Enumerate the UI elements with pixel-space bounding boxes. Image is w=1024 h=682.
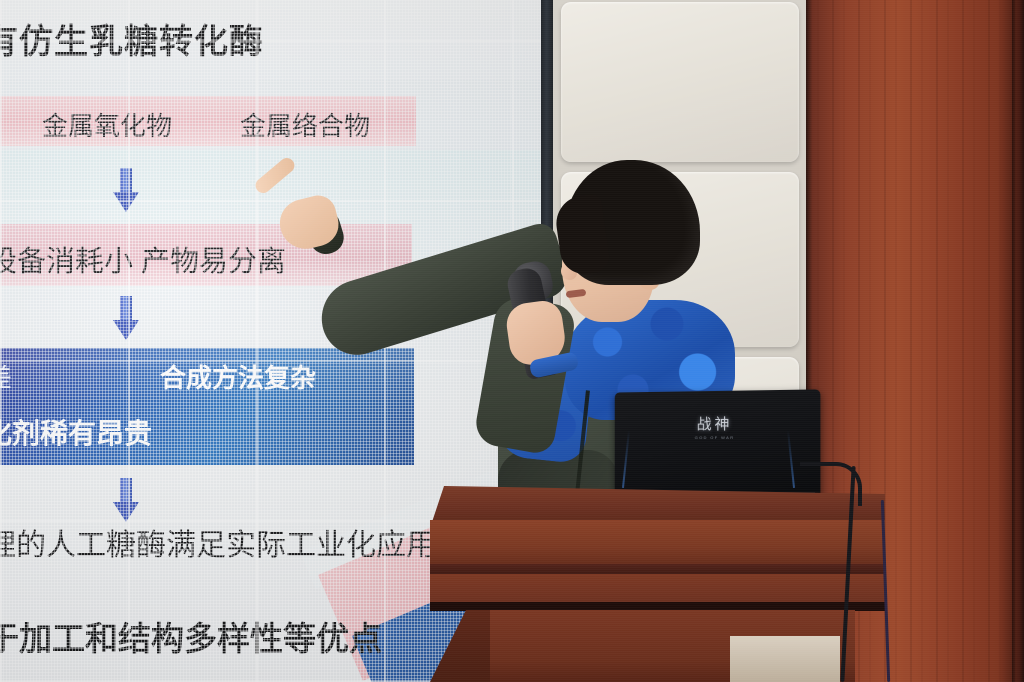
slide-text-benefits: 于加工和结构多样性等优点 [0,612,382,660]
podium-top-face [430,520,885,566]
podium [430,486,885,682]
slide-text-blue-left: 差 [0,358,12,395]
presentation-photo-scene: 有仿生乳糖转化酶 金属氧化物 金属络合物 设备消耗小 产物易分离 差 合成方法复… [0,0,1024,682]
arrow-head [113,502,139,522]
slide-text-advantages: 设备消耗小 产物易分离 [0,238,286,280]
laptop-logo-zh: 战神 [695,413,735,434]
slide-text-conclusion: 理的人工糖酶满足实际工业化应用 [0,520,436,564]
slide-text-metal-oxide: 金属氧化物 [42,106,172,143]
podium-band [430,574,885,604]
podium-inner-shelf [730,636,840,682]
laptop-logo-en: GOD OF WAR [695,435,735,440]
slide-text-blue-line2: 化剂稀有昂贵 [0,412,152,452]
slide-title: 有仿生乳糖转化酶 [0,14,264,63]
down-arrow-icon-3 [113,478,139,522]
arrow-head [113,192,139,212]
wood-seam [1012,0,1015,682]
down-arrow-icon-2 [113,296,139,340]
arrow-head [113,320,139,340]
laptop-logo: 战神 GOD OF WAR [695,413,735,440]
slide-text-metal-complex: 金属络合物 [240,106,370,143]
arrow-stem [120,168,132,194]
wall-panel [561,2,799,162]
arrow-stem [120,296,132,322]
arrow-stem [120,478,132,504]
podium-left-side [430,610,492,682]
down-arrow-icon-1 [113,168,139,212]
slide-text-blue-right: 合成方法复杂 [160,358,316,395]
